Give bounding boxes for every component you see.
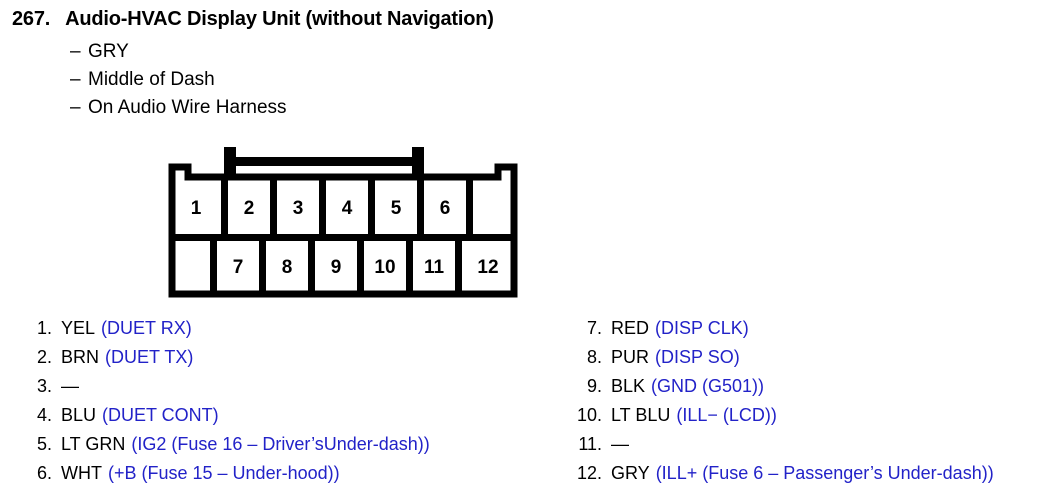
heading-number: 267. <box>12 8 50 31</box>
pin-number-1: 1 <box>191 198 202 219</box>
pin-signal-name: (ILL− (LCD)) <box>676 401 777 430</box>
pin-number-5: 5 <box>391 198 402 219</box>
pin-row: 12.GRY(ILL+ (Fuse 6 – Passenger’s Under-… <box>568 459 994 488</box>
pin-number-4: 4 <box>342 198 353 219</box>
pin-unused-dash: — <box>61 372 79 401</box>
pin-number-12: 12 <box>477 257 498 278</box>
pin-list-right: 7.RED(DISP CLK)8.PUR(DISP SO)9.BLK(GND (… <box>568 314 994 488</box>
connector-diagram: 123456 789101112 <box>168 143 518 303</box>
pin-index: 9. <box>568 372 611 401</box>
pin-number-3: 3 <box>293 198 304 219</box>
connector-attribute-text: Middle of Dash <box>88 69 215 91</box>
pin-row: 1.YEL(DUET RX) <box>18 314 430 343</box>
pin-signal-name: (DISP SO) <box>655 343 740 372</box>
pin-index: 1. <box>18 314 61 343</box>
pin-number-9: 9 <box>331 257 342 278</box>
pin-wire-color: BLU <box>61 401 96 430</box>
pin-number-10: 10 <box>374 257 395 278</box>
pin-signal-name: (DUET RX) <box>101 314 192 343</box>
pin-row: 3.— <box>18 372 430 401</box>
pin-row: 7.RED(DISP CLK) <box>568 314 994 343</box>
latch-bar <box>234 157 414 166</box>
pin-wire-color: WHT <box>61 459 102 488</box>
pin-wire-color: PUR <box>611 343 649 372</box>
pin-row: 9.BLK(GND (G501)) <box>568 372 994 401</box>
pin-index: 8. <box>568 343 611 372</box>
pin-wire-color: YEL <box>61 314 95 343</box>
pin-number-7: 7 <box>233 257 244 278</box>
pin-row: 5.LT GRN(IG2 (Fuse 16 – Driver’sUnder-da… <box>18 430 430 459</box>
pin-index: 10. <box>568 401 611 430</box>
pin-row: 10.LT BLU(ILL− (LCD)) <box>568 401 994 430</box>
page-title: Audio-HVAC Display Unit (without Navigat… <box>65 8 494 31</box>
bullet-dash-icon: – <box>70 41 88 63</box>
pin-signal-name: (DISP CLK) <box>655 314 749 343</box>
connector-attribute-row: –GRY <box>70 41 287 69</box>
pin-index: 11. <box>568 430 611 459</box>
bullet-dash-icon: – <box>70 97 88 119</box>
connector-attribute-row: –On Audio Wire Harness <box>70 97 287 125</box>
pin-row: 11.— <box>568 430 994 459</box>
pin-index: 12. <box>568 459 611 488</box>
pin-wire-color: BLK <box>611 372 645 401</box>
pin-wire-color: LT BLU <box>611 401 670 430</box>
pin-number-8: 8 <box>282 257 293 278</box>
pin-row: 2.BRN(DUET TX) <box>18 343 430 372</box>
page-heading: 267. Audio-HVAC Display Unit (without Na… <box>12 8 494 31</box>
pin-wire-color: GRY <box>611 459 650 488</box>
pin-unused-dash: — <box>611 430 629 459</box>
connector-svg: 123456 789101112 <box>168 143 518 298</box>
pin-wire-color: LT GRN <box>61 430 125 459</box>
pin-index: 3. <box>18 372 61 401</box>
pin-signal-name: (GND (G501)) <box>651 372 764 401</box>
pin-signal-name: (ILL+ (Fuse 6 – Passenger’s Under-dash)) <box>656 459 994 488</box>
pin-row: 4.BLU(DUET CONT) <box>18 401 430 430</box>
connector-attribute-text: On Audio Wire Harness <box>88 97 287 119</box>
pin-list-left: 1.YEL(DUET RX)2.BRN(DUET TX)3.—4.BLU(DUE… <box>18 314 430 488</box>
pin-number-2: 2 <box>244 198 255 219</box>
pin-row: 8.PUR(DISP SO) <box>568 343 994 372</box>
pin-number-6: 6 <box>440 198 451 219</box>
connector-attribute-row: –Middle of Dash <box>70 69 287 97</box>
pin-signal-name: (DUET CONT) <box>102 401 219 430</box>
pin-signal-name: (IG2 (Fuse 16 – Driver’sUnder-dash)) <box>131 430 429 459</box>
pin-wire-color: RED <box>611 314 649 343</box>
pin-signal-name: (+B (Fuse 15 – Under-hood)) <box>108 459 340 488</box>
pin-index: 6. <box>18 459 61 488</box>
pin-index: 5. <box>18 430 61 459</box>
pin-index: 7. <box>568 314 611 343</box>
pin-index: 2. <box>18 343 61 372</box>
pin-wire-color: BRN <box>61 343 99 372</box>
pin-row: 6.WHT(+B (Fuse 15 – Under-hood)) <box>18 459 430 488</box>
pin-number-11: 11 <box>424 257 445 278</box>
pin-index: 4. <box>18 401 61 430</box>
connector-attribute-list: –GRY–Middle of Dash–On Audio Wire Harnes… <box>70 41 287 125</box>
connector-attribute-text: GRY <box>88 41 129 63</box>
pin-signal-name: (DUET TX) <box>105 343 193 372</box>
bullet-dash-icon: – <box>70 69 88 91</box>
